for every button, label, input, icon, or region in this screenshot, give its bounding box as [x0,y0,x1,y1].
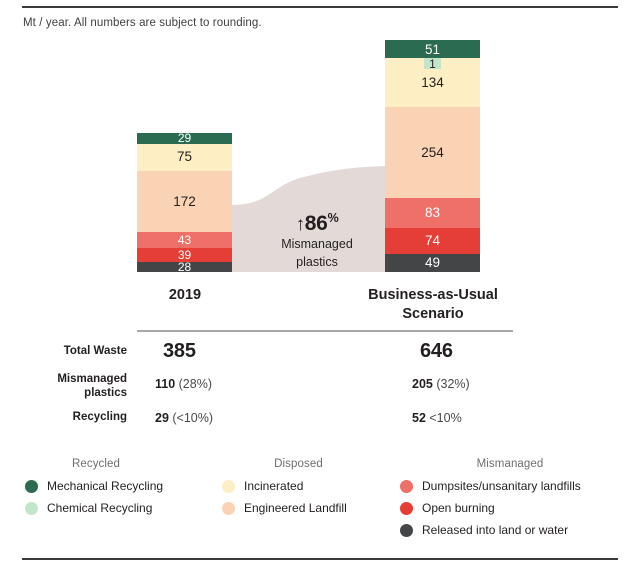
segment-value-label: 43 [178,234,191,246]
segment-value-label: 74 [425,234,440,248]
segment-value-label: 75 [177,150,192,164]
annotation-line-2: plastics [253,255,381,270]
up-arrow-icon: ↑ [296,214,305,235]
table-row-label: Total Waste [0,345,127,359]
table-row-label: Recycling [0,411,127,425]
bar-segment-released: 28 [137,262,232,272]
legend-item-label: Engineered Landfill [244,501,347,515]
annotation-line-1: Mismanaged [253,237,381,252]
legend-item-label: Dumpsites/unsanitary landfills [422,479,581,493]
legend-item-label: Open burning [422,501,495,515]
bar-segment-engineered-landfill: 254 [385,107,480,198]
mismanaged-growth-annotation: ↑86% Mismanaged plastics [253,212,381,271]
table-cell-2019: 110 (28%) [155,377,212,391]
bar-segment-chemical-recycling: 1 [424,58,441,69]
percent-sign: % [328,211,339,225]
segment-value-label: 39 [178,249,191,261]
legend-item-label: Released into land or water [422,523,568,537]
legend-swatch-icon [222,480,235,493]
legend-item-chemical-recycling[interactable]: Chemical Recycling [25,501,215,515]
legend-item-label: Mechanical Recycling [47,479,163,493]
segment-value-label: 49 [425,256,440,270]
legend-group-disposed: DisposedIncineratedEngineered Landfill [222,458,397,523]
growth-value: ↑86% [253,212,381,234]
bar-segment-mechanical-recycling: 51 [385,40,480,58]
scenario-label-2019: 2019 [120,286,250,305]
bar-segment-mechanical-recycling: 29 [137,133,232,143]
legend-item-label: Incinerated [244,479,303,493]
legend-item-engineered-landfill[interactable]: Engineered Landfill [222,501,397,515]
legend-swatch-icon [400,524,413,537]
legend-item-label: Chemical Recycling [47,501,152,515]
table-cell-percent: (32%) [433,377,470,391]
table-row-label-line-2: plastics [0,387,127,401]
segment-value-label: 172 [173,195,196,209]
legend-item-incinerated[interactable]: Incinerated [222,479,397,493]
scenario-label-line-1: Business-as-Usual [368,286,498,305]
segment-value-label: 83 [425,206,440,220]
segment-value-label: 254 [421,146,444,160]
legend-group-mismanaged: MismanagedDumpsites/unsanitary landfills… [400,458,630,545]
table-cell-value: 646 [420,340,453,362]
bar-segment-open-burning: 39 [137,248,232,262]
table-row-label-line-1: Recycling [0,411,127,425]
legend-swatch-icon [25,480,38,493]
growth-number: 86 [305,212,328,235]
scenario-label-line-2: Scenario [368,305,498,324]
table-cell-business-as-usual: 205 (32%) [412,377,470,391]
legend-group-heading: Mismanaged [400,458,630,470]
table-cell-percent: (<10%) [169,411,213,425]
table-row: Recycling29 (<10%)52 <10% [0,409,640,439]
table-cell-business-as-usual: 646 [420,340,453,363]
table-cell-value: 110 [155,377,175,391]
segment-value-label: 28 [178,261,191,273]
legend-item-open-burning[interactable]: Open burning [400,501,630,515]
legend-group-heading: Disposed [222,458,397,470]
table-cell-2019: 29 (<10%) [155,411,213,425]
table-cell-percent: (28%) [175,377,212,391]
bar-segment-dumpsites: 83 [385,198,480,228]
legend-group-recycled: RecycledMechanical RecyclingChemical Rec… [25,458,215,523]
bottom-divider-rule [22,558,618,560]
table-cell-2019: 385 [163,340,196,363]
bar-segment-released: 49 [385,254,480,272]
table-row-label: Mismanagedplastics [0,373,127,401]
segment-value-label: 29 [178,132,191,144]
table-row-label-line-1: Mismanaged [0,373,127,387]
bar-segment-engineered-landfill: 172 [137,171,232,233]
table-cell-value: 29 [155,411,169,425]
table-cell-value: 385 [163,340,196,362]
bar-segment-dumpsites: 43 [137,232,232,247]
table-cell-percent: <10% [426,411,462,425]
legend-group-heading: Recycled [25,458,215,470]
legend-swatch-icon [25,502,38,515]
table-cell-value: 205 [412,377,433,391]
stacked-bar-chart: 2839431727529 497483254134511 ↑86% Misma… [0,0,640,285]
segment-value-label: 51 [425,43,440,57]
legend-swatch-icon [400,480,413,493]
scenario-label-business-as-usual: Business-as-Usual Scenario [368,286,498,323]
chart-legend: RecycledMechanical RecyclingChemical Rec… [0,458,640,548]
bar-segment-incinerated: 75 [137,144,232,171]
segment-value-label: 1 [429,58,436,70]
summary-table-divider [137,330,513,332]
bar-segment-open-burning: 74 [385,228,480,255]
table-row-label-line-1: Total Waste [0,345,127,359]
segment-value-label: 134 [421,76,444,90]
table-row: Mismanagedplastics110 (28%)205 (32%) [0,375,640,405]
legend-item-mechanical-recycling[interactable]: Mechanical Recycling [25,479,215,493]
table-row: Total Waste385646 [0,340,640,370]
table-cell-value: 52 [412,411,426,425]
legend-item-released[interactable]: Released into land or water [400,523,630,537]
legend-swatch-icon [222,502,235,515]
legend-item-dumpsites[interactable]: Dumpsites/unsanitary landfills [400,479,630,493]
legend-swatch-icon [400,502,413,515]
table-cell-business-as-usual: 52 <10% [412,411,462,425]
